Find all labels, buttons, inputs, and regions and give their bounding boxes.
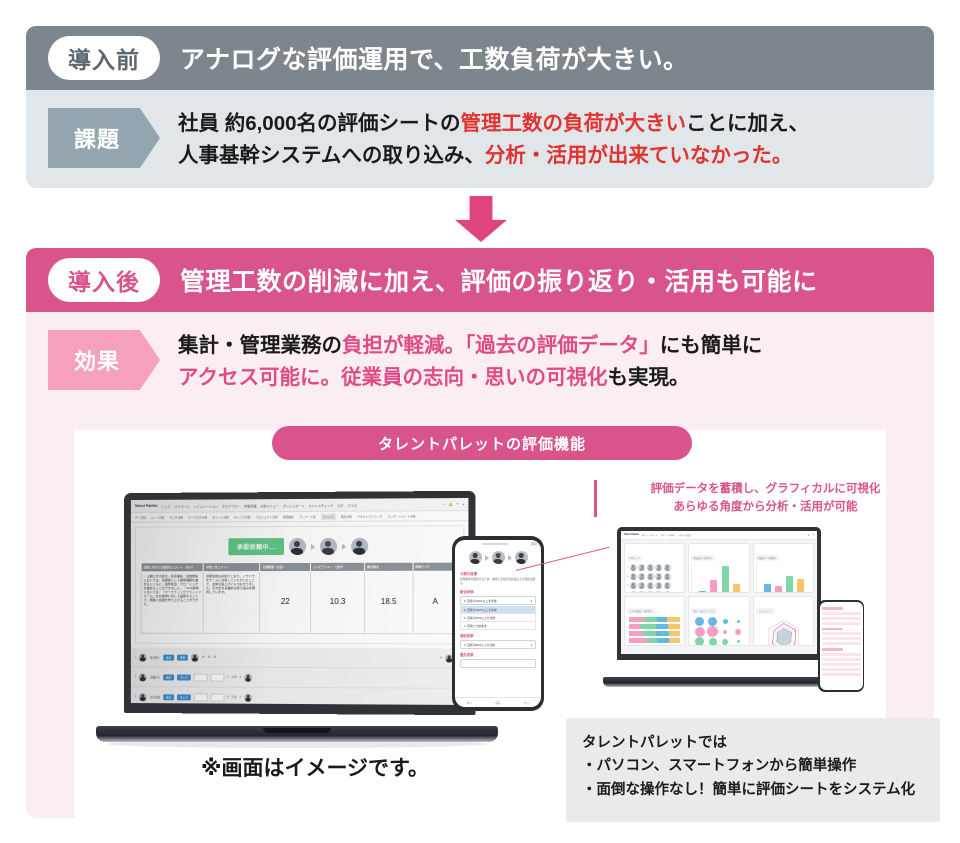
phone-right-row	[822, 653, 861, 656]
subnav-project[interactable]: プロジェクト分析	[256, 515, 278, 519]
td-total-score: 18.5	[365, 571, 413, 633]
chevron-right-icon	[508, 555, 512, 561]
td-self-comment: ・上期に引き続き、新卒開拓・自動更新においては、良顧客として顧客理解を進めるとと…	[141, 572, 203, 634]
info-box-bullet-2: ・面倒な操作なし！簡単に評価シートをシステム化	[582, 779, 926, 802]
phone-right-heading	[822, 648, 843, 651]
member-name: 高橋奈々	[150, 675, 160, 679]
nav-dashboard[interactable]: ダッシュボード	[283, 502, 305, 507]
stack-row	[629, 638, 680, 643]
row-input-cell[interactable]	[194, 693, 208, 701]
list-item[interactable]: 3 木村直樹 確認 未入力 3 0.00 0 0.3 0.3	[131, 687, 469, 705]
nav-mypage[interactable]: マイページ	[174, 503, 189, 508]
priority-result-select[interactable]	[460, 659, 536, 668]
row-val-2: 0.00	[232, 696, 237, 699]
select-option[interactable]: a: 目標の150%以上を達成	[460, 606, 536, 614]
list-item[interactable]: 1 鈴木優斗 確認 評価 16 18 32 8	[131, 648, 469, 669]
phone-nav-next[interactable]: 次へ	[524, 701, 529, 705]
row-val-3: 0	[240, 696, 241, 699]
stack-row	[629, 624, 680, 629]
after-line2-b: も実現。	[607, 366, 689, 389]
dashboard-topbar: Talent Palette ダッシュボード タレント分析 レポート出力 ⌕ ⚙…	[621, 531, 817, 540]
nav-taskflow[interactable]: タスクフロー	[222, 503, 240, 508]
phone-form: 今期の目標 新規顧客を獲得するため、顧客との接点の創出および深化を図る。 総合評…	[455, 571, 541, 668]
laptop-right: Talent Palette ダッシュボード タレント分析 レポート出力 ⌕ ⚙…	[603, 527, 835, 687]
panel-title: 人材マップ	[627, 555, 642, 561]
laptop-notch	[263, 728, 331, 733]
phone-right-row	[822, 673, 861, 676]
before-line1-c: ことに加え、	[686, 112, 809, 135]
before-header: 導入前 アナログな評価運用で、工数負荷が大きい。	[26, 26, 934, 90]
th-self-comment: 成果に対する全般的なコメント（本人）	[141, 563, 203, 572]
radar-svg	[756, 617, 811, 646]
select-option[interactable]: c: 目標に大幅未達	[460, 622, 536, 630]
avatar[interactable]: ◕	[462, 502, 464, 506]
row-owner-avatar	[244, 693, 252, 701]
bar-A	[775, 586, 782, 593]
bar-B	[786, 576, 793, 593]
approver-avatar-3	[351, 538, 368, 555]
th-manager-comment: 中間上司コメント	[204, 563, 261, 572]
app-logo: Talent Palette	[624, 534, 639, 536]
after-line1-a: 集計・管理業務の	[178, 334, 342, 357]
row-index: 3	[135, 695, 136, 698]
th-rank: 評価ランク	[413, 562, 458, 571]
after-title: 管理工数の削減に加え、評価の振り返り・活用も可能に	[180, 262, 818, 298]
info-box-bullet-1: ・パソコン、スマートフォンから簡単操作	[582, 755, 926, 778]
row-tag-eval[interactable]: 評価	[177, 654, 188, 660]
phone-right	[818, 600, 864, 692]
member-avatar	[139, 653, 147, 661]
help-icon[interactable]: ?	[457, 502, 459, 506]
nav-master[interactable]: マスタ	[348, 502, 357, 507]
stack-row	[629, 617, 680, 622]
row-val-3: 0	[240, 676, 241, 679]
phone-right-row	[822, 668, 861, 671]
dashboard-grid: 人材マップ S A B C 評価分布（部門別）	[621, 540, 817, 649]
total-eval-select[interactable]: b: 目標の120%以上を達成 ▾	[460, 596, 536, 605]
phone-nav-prev[interactable]: 前へ	[467, 701, 472, 705]
approval-flow: 承認依頼中...	[141, 537, 459, 555]
before-chip: 導入前	[48, 36, 160, 80]
approver-avatar-1	[289, 538, 306, 555]
panel-skill-composition[interactable]: スキル構成比（部門別） A B C D	[624, 596, 685, 646]
row-tag-confirm[interactable]: 確認	[163, 674, 174, 680]
row-tag-input[interactable]: 未入力	[177, 674, 191, 680]
nav-top[interactable]: トップ	[161, 503, 170, 508]
phone-title-placeholder	[482, 543, 508, 545]
phone-right-row	[822, 642, 861, 645]
before-body-text: 社員 約6,000名の評価シートの管理工数の負荷が大きいことに加え、 人事基幹シ…	[178, 108, 809, 172]
after-line2-highlight: アクセス可能に。従業員の志向・思いの可視化	[178, 366, 607, 389]
individual-result-value: b: 目標の80%以上を達成	[464, 643, 495, 647]
td-goal-total: 22	[260, 571, 311, 633]
before-line2-highlight: 分析・活用が出来ていなかった。	[485, 144, 793, 167]
phone-section-individual-title: 個別成果	[460, 633, 536, 638]
before-line2-a: 人事基幹システムへの取り込み、	[178, 144, 485, 167]
evaluation-sheet-card: 承認依頼中... 成果に対する全般的なコメント（本人） 中間上司コメント	[135, 525, 465, 644]
dashboard-caption-line2: あらゆる角度から分析・活用が可能	[607, 498, 924, 516]
stack-row	[629, 645, 680, 646]
subnav-worklog[interactable]: ワークログ分析	[188, 515, 207, 519]
approver-avatar-2	[492, 551, 505, 564]
bar-B	[722, 566, 729, 593]
after-tag-effect: 効果	[48, 330, 160, 390]
subnav-career[interactable]: キャリア分析	[234, 515, 251, 519]
before-line-2: 人事基幹システムへの取り込み、分析・活用が出来ていなかった。	[178, 140, 809, 172]
before-section: 導入前 アナログな評価運用で、工数負荷が大きい。 課題 社員 約6,000名の評…	[26, 26, 934, 188]
approver-avatar-1	[469, 551, 482, 564]
row-input-cell[interactable]	[210, 673, 224, 681]
phone-approval-flow	[455, 548, 541, 568]
nav-stress[interactable]: ストレスチェック	[309, 502, 334, 507]
phone-right-heading	[822, 628, 843, 631]
row-tag-confirm[interactable]: 確認	[163, 654, 174, 660]
phone-bottom-nav: 前へ 保存 次へ	[455, 697, 541, 707]
radar-chart	[756, 617, 811, 646]
dashboard-caption-line1: 評価データを蓄積し、グラフィカルに可視化	[607, 480, 924, 498]
table-row: ・上期に引き続き、新卒開拓・自動更新においては、良顧客として顧客理解を進めるとと…	[141, 571, 458, 634]
row-input-cell[interactable]	[194, 673, 208, 681]
subnav-stress[interactable]: ストレス	[321, 513, 336, 519]
th-goal-total: 目標数値（合計）	[260, 562, 311, 571]
panel-title: スキル構成比（部門別）	[627, 608, 655, 614]
th-competency-total: コンピテンシー（合計）	[311, 562, 365, 571]
member-avatar	[139, 693, 147, 701]
member-grid: 1 鈴木優斗 確認 評価 16 18 32 8 2	[131, 648, 469, 705]
td-competency-total: 10.3	[311, 571, 365, 633]
app-logo: Talent Palette	[135, 504, 158, 508]
row-index: 1	[135, 655, 136, 658]
chevron-left-icon[interactable]: ‹	[459, 542, 460, 546]
slide-root: 導入前 アナログな評価運用で、工数負荷が大きい。 課題 社員 約6,000名の評…	[0, 0, 960, 843]
td-rank: A	[413, 571, 458, 634]
after-body-text: 集計・管理業務の負担が軽減。「過去の評価データ」にも簡単に アクセス可能に。従業…	[178, 330, 762, 394]
laptop-left: Talent Palette トップ マイページ シミュレーション タスクフロー…	[96, 492, 498, 742]
before-tag-issue: 課題	[48, 108, 160, 168]
nav-log[interactable]: ログ	[337, 502, 343, 507]
chevron-right-icon	[485, 555, 489, 561]
row-val-2: 18	[208, 656, 211, 659]
info-box: タレントパレットでは ・パソコン、スマートフォンから簡単操作 ・面倒な操作なし！…	[566, 718, 940, 822]
subnav-attendance[interactable]: 勤怠分析	[341, 514, 352, 518]
bar-C	[797, 579, 804, 593]
phone-nav-save[interactable]: 保存	[495, 701, 500, 705]
approver-avatar-2	[319, 538, 336, 555]
nav-analysis[interactable]: 分析メニュー	[261, 503, 279, 508]
feature-badge: タレントパレットの評価機能	[272, 426, 692, 460]
dashboard-caption: 評価データを蓄積し、グラフィカルに可視化 あらゆる角度から分析・活用が可能	[594, 480, 924, 517]
avatar-row: C	[627, 591, 682, 593]
avatar-row: A	[627, 573, 682, 580]
row-tag-input[interactable]: 未入力	[177, 694, 191, 700]
individual-result-select[interactable]: b: 目標の80%以上を達成 ▾	[460, 640, 536, 649]
bar-C	[733, 584, 740, 593]
screenshot-disclaimer: ※画面はイメージです。	[190, 752, 440, 782]
subnav-point[interactable]: ポイント分析	[212, 515, 229, 519]
avatar[interactable]: ◕	[813, 534, 814, 536]
laptop-left-lid: Talent Palette トップ マイページ シミュレーション タスクフロー…	[124, 491, 476, 715]
member-avatar	[139, 673, 147, 681]
info-box-lead: タレントパレットでは	[582, 732, 926, 755]
bar-S	[699, 591, 706, 593]
panel-eval-dist-dept[interactable]: 評価分布（部門別）	[688, 543, 749, 593]
phone-section-total-title: 総合評価	[460, 589, 536, 594]
bar-chart-2	[756, 564, 811, 593]
after-line1-c: にも簡単に	[660, 334, 763, 357]
bar-S	[764, 584, 771, 593]
dash-nav-talent[interactable]: タレント分析	[661, 533, 675, 537]
row-val-3: 32	[214, 656, 217, 659]
before-line-1: 社員 約6,000名の評価シートの管理工数の負荷が大きいことに加え、	[178, 108, 809, 140]
phone-section-priority-title: 優先成果	[460, 652, 536, 657]
bar-A	[710, 580, 717, 593]
subnav-match[interactable]: マッチ分析	[169, 515, 183, 519]
after-body: 効果 集計・管理業務の負担が軽減。「過去の評価データ」にも簡単に アクセス可能に…	[26, 312, 934, 394]
before-body: 課題 社員 約6,000名の評価シートの管理工数の負荷が大きいことに加え、 人事…	[26, 90, 934, 172]
phone-right-screen	[820, 602, 863, 690]
row-val-1: 16	[202, 656, 205, 659]
stacked-bar-chart: A B C D	[627, 617, 682, 646]
panel-title: 評価分布（等級別）	[756, 555, 780, 561]
subnav-issue[interactable]: 問題抽出	[283, 515, 294, 519]
before-line1-a: 社員 約6,000名の評価シートの	[178, 112, 461, 135]
phone-right-row	[822, 658, 861, 661]
phone-save-button[interactable]: 保存	[531, 542, 537, 546]
evaluation-table: 成果に対する全般的なコメント（本人） 中間上司コメント 目標数値（合計） コンピ…	[141, 562, 459, 635]
bell-icon[interactable]: 🔔	[449, 502, 453, 506]
subnav-engagement[interactable]: エンゲージメント分析	[387, 514, 415, 518]
td-manager-comment: 目標達成は初めてとなり、ノウハウをチームに共有していただいたことで、全体の底上げ…	[204, 572, 261, 634]
panel-title: コンピテンシー	[756, 608, 775, 614]
laptop-left-base	[96, 726, 498, 742]
phone-right-row	[822, 632, 861, 635]
chevron-down-icon: ▾	[531, 599, 532, 603]
app-subnav: データ別 メンバ分析 マッチ分析 ワークログ分析 ポイント分析 キャリア分析 プ…	[131, 511, 469, 523]
panel-ability-matrix[interactable]: 能力・志向マトリクス	[688, 596, 749, 646]
member-name: 木村直樹	[150, 695, 160, 699]
row-index: 2	[135, 675, 136, 678]
panel-eval-dist-grade[interactable]: 評価分布（等級別）	[753, 543, 814, 593]
stack-row	[629, 631, 680, 636]
approver-avatar-3	[515, 551, 528, 564]
select-option[interactable]: b: 目標の80%以上を達成	[460, 614, 536, 622]
gear-icon[interactable]: ⚙	[808, 534, 810, 537]
chevron-down-icon: ▾	[531, 643, 532, 647]
search-icon[interactable]: ⌕	[803, 534, 804, 536]
phone-center: ‹ 保存 今期の目標 新規顧客を獲得するため、顧客との接点の創出および深化を図る…	[452, 536, 544, 711]
search-icon[interactable]: ⌕	[443, 502, 445, 506]
after-line-1: 集計・管理業務の負担が軽減。「過去の評価データ」にも簡単に	[178, 330, 762, 362]
total-eval-selected-value: b: 目標の120%以上を達成	[464, 599, 497, 603]
row-val-1: 3	[227, 676, 228, 679]
nav-eval[interactable]: 評価管理	[244, 503, 256, 508]
member-name: 鈴木優斗	[150, 655, 160, 659]
row-owner-avatar	[191, 653, 199, 661]
laptop-right-screen: Talent Palette ダッシュボード タレント分析 レポート出力 ⌕ ⚙…	[621, 531, 817, 654]
dash-nav-dashboard[interactable]: ダッシュボード	[642, 533, 658, 537]
phone-section-goal-body: 新規顧客を獲得するため、顧客との接点の創出および深化を図る。	[460, 578, 536, 586]
row-tag-confirm[interactable]: 確認	[163, 694, 174, 700]
dash-nav-report[interactable]: レポート出力	[678, 533, 692, 537]
chevron-right-icon	[310, 543, 314, 549]
row-score: 8	[441, 656, 442, 659]
row-owner-avatar	[244, 673, 252, 681]
phone-right-row	[822, 622, 861, 625]
panel-title: 評価分布（部門別）	[691, 555, 715, 561]
phone-right-row	[822, 663, 861, 666]
approval-status-badge[interactable]: 承認依頼中...	[229, 538, 284, 555]
phone-topbar: ‹ 保存	[455, 540, 541, 548]
phone-right-row	[822, 637, 861, 640]
before-title: アナログな評価運用で、工数負荷が大きい。	[180, 40, 689, 76]
after-chip: 導入後	[48, 258, 160, 302]
panel-title: 能力・志向マトリクス	[691, 608, 717, 614]
row-val-1: 3	[227, 696, 228, 699]
phone-right-row	[822, 617, 861, 620]
avatar-row: S	[627, 564, 682, 571]
bubble-chart	[691, 617, 746, 646]
list-item[interactable]: 2 高橋奈々 確認 未入力 3 0.00 0 0.3 0.3	[131, 667, 469, 688]
down-arrow-icon	[455, 196, 507, 242]
subnav-survey[interactable]: アンケート別	[299, 514, 316, 518]
phone-section-goal-title: 今期の目標	[460, 571, 536, 576]
before-line1-highlight: 管理工数の負荷が大きい	[461, 112, 687, 135]
subnav-member[interactable]: メンバ分析	[151, 515, 165, 519]
row-val-2: 0.00	[232, 676, 237, 679]
subnav-textmining[interactable]: テキストマイニング	[357, 514, 382, 518]
avatar-row: B	[627, 582, 682, 589]
bar-chart-1	[691, 564, 746, 593]
row-input-cell[interactable]	[210, 693, 224, 701]
after-header: 導入後 管理工数の削減に加え、評価の振り返り・活用も可能に	[26, 248, 934, 312]
subnav-data[interactable]: データ別	[135, 515, 146, 519]
laptop-left-screen: Talent Palette トップ マイページ シミュレーション タスクフロー…	[131, 498, 469, 705]
panel-talent-map[interactable]: 人材マップ S A B C	[624, 543, 685, 593]
after-line1-highlight: 負担が軽減。「過去の評価データ」	[342, 334, 660, 357]
panel-competency-radar[interactable]: コンピテンシー	[753, 596, 814, 646]
laptop-right-lid: Talent Palette ダッシュボード タレント分析 レポート出力 ⌕ ⚙…	[617, 527, 821, 660]
th-total-score: 総合得点	[365, 562, 413, 571]
phone-right-heading	[822, 607, 843, 610]
nav-simulation[interactable]: シミュレーション	[194, 503, 218, 508]
after-line-2: アクセス可能に。従業員の志向・思いの可視化も実現。	[178, 362, 762, 394]
laptop-right-base	[603, 677, 835, 687]
phone-right-row	[822, 612, 861, 615]
chevron-right-icon	[342, 543, 346, 549]
phone-center-screen: ‹ 保存 今期の目標 新規顧客を獲得するため、顧客との接点の創出および深化を図る…	[455, 540, 541, 707]
